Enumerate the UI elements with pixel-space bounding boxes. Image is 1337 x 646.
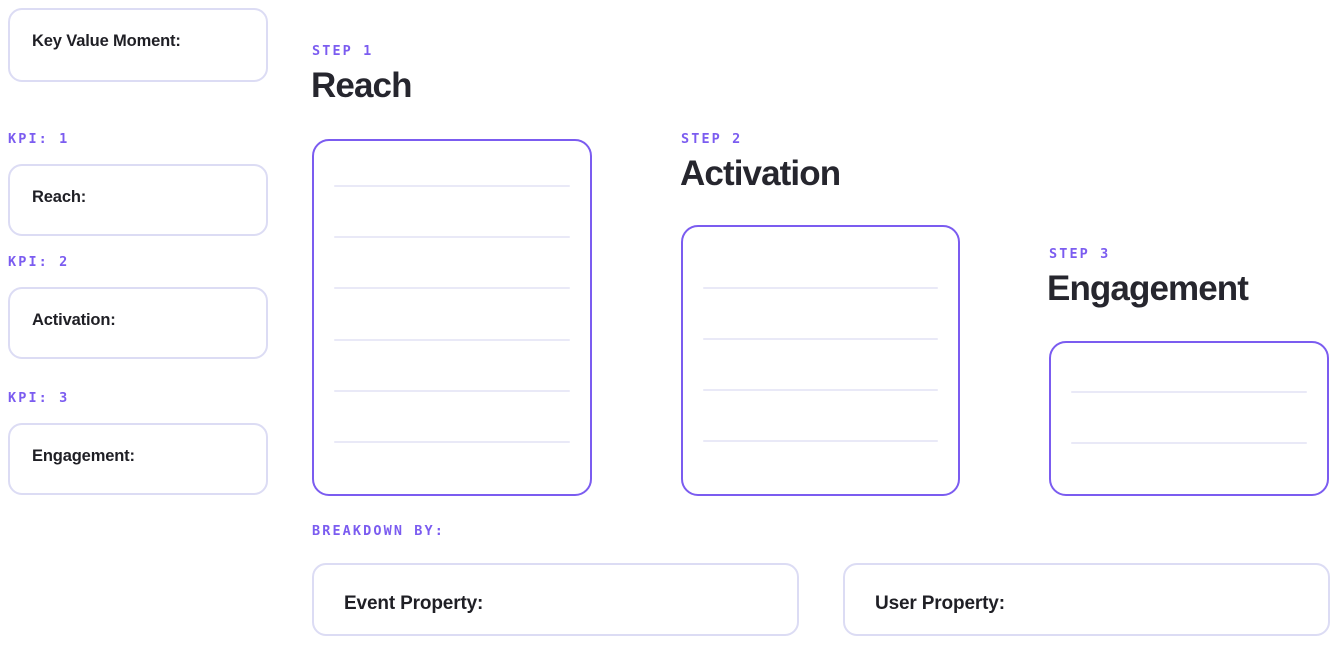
step-2-eyebrow: STEP 2: [681, 131, 742, 147]
user-property-card[interactable]: User Property:: [843, 563, 1330, 636]
step-2-heading: Activation: [680, 154, 840, 194]
step-1-heading: Reach: [311, 66, 412, 106]
rule-line: [703, 389, 938, 391]
step-3-heading: Engagement: [1047, 269, 1248, 309]
rule-line: [1071, 391, 1307, 393]
event-property-label: Event Property:: [344, 593, 483, 615]
rule-line: [334, 441, 570, 443]
kpi-3-label: Engagement:: [32, 447, 135, 466]
kpi-1-card[interactable]: Reach:: [8, 164, 268, 236]
rule-line: [703, 287, 938, 289]
rule-line: [334, 236, 570, 238]
rule-line: [334, 339, 570, 341]
step-3-notes-card[interactable]: [1049, 341, 1329, 496]
key-value-moment-card[interactable]: Key Value Moment:: [8, 8, 268, 82]
step-3-eyebrow: STEP 3: [1049, 246, 1110, 262]
kpi-1-label: Reach:: [32, 188, 86, 207]
user-property-label: User Property:: [875, 593, 1005, 615]
step-1-eyebrow: STEP 1: [312, 43, 373, 59]
worksheet-canvas: Key Value Moment: KPI: 1 Reach: KPI: 2 A…: [0, 0, 1337, 646]
kpi-2-card[interactable]: Activation:: [8, 287, 268, 359]
rule-line: [334, 287, 570, 289]
rule-line: [334, 185, 570, 187]
breakdown-by-eyebrow: BREAKDOWN BY:: [312, 523, 445, 539]
rule-line: [703, 440, 938, 442]
rule-line: [703, 338, 938, 340]
kpi-2-eyebrow: KPI: 2: [8, 254, 69, 270]
step-2-notes-card[interactable]: [681, 225, 960, 496]
kpi-3-card[interactable]: Engagement:: [8, 423, 268, 495]
kpi-2-label: Activation:: [32, 311, 116, 330]
kpi-3-eyebrow: KPI: 3: [8, 390, 69, 406]
rule-line: [334, 390, 570, 392]
step-1-notes-card[interactable]: [312, 139, 592, 496]
event-property-card[interactable]: Event Property:: [312, 563, 799, 636]
key-value-moment-label: Key Value Moment:: [32, 32, 181, 51]
rule-line: [1071, 442, 1307, 444]
kpi-1-eyebrow: KPI: 1: [8, 131, 69, 147]
